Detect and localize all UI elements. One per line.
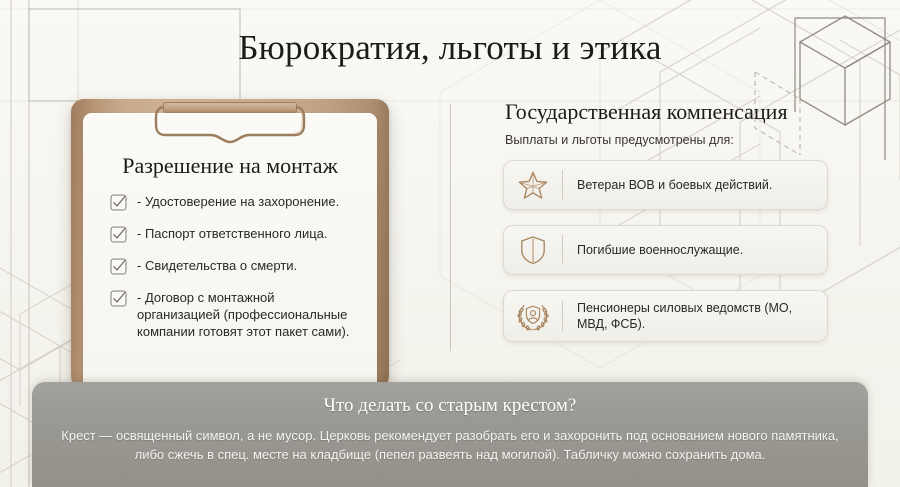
benefit-card-rule [562,170,563,200]
checkbox-checked-icon[interactable] [110,226,127,243]
benefit-icon-wrap [504,235,562,265]
bottom-banner: Что делать со старым крестом? Крест — ос… [32,382,868,487]
banner-body: Крест — освященный символ, а не мусор. Ц… [55,426,845,464]
checkbox-checked-icon[interactable] [110,194,127,211]
compensation-title: Государственная компенсация [505,99,828,125]
banner-title: Что делать со старым крестом? [32,395,868,417]
column-divider [450,104,451,351]
shield-icon [519,235,547,265]
benefit-card-rule [562,301,563,331]
clipboard-clip-bar [163,102,297,113]
compensation-panel: Государственная компенсация Выплаты и ль… [503,99,828,357]
clipboard-paper: Разрешение на монтаж - Удостоверение на … [83,113,377,391]
slide-canvas: Бюрократия, льготы и этика Разрешение на… [0,0,900,487]
benefit-card-fallen-soldiers[interactable]: Погибшие военнослужащие. [503,225,828,275]
list-item-label: - Свидетельства о смерти. [137,257,297,274]
list-item[interactable]: - Договор с монтажной организацией (проф… [110,289,361,340]
clipboard-card: Разрешение на монтаж - Удостоверение на … [71,99,389,389]
list-item-label: - Удостоверение на захоронение. [137,193,339,210]
benefit-icon-wrap [504,170,562,200]
benefit-card-rule [562,235,563,265]
checkbox-checked-icon[interactable] [110,258,127,275]
benefit-icon-wrap [504,300,562,332]
laurel-wreath-icon [514,300,552,332]
benefit-card-label: Погибшие военнослужащие. [577,242,753,258]
star-icon [518,170,548,200]
permission-checklist: - Удостоверение на захоронение. - Паспор… [110,193,361,354]
list-item[interactable]: - Удостоверение на захоронение. [110,193,361,211]
benefit-card-label: Пенсионеры силовых ведомств (МО, МВД, ФС… [577,300,827,332]
benefit-card-pensioners[interactable]: Пенсионеры силовых ведомств (МО, МВД, ФС… [503,290,828,342]
list-item[interactable]: - Свидетельства о смерти. [110,257,361,275]
page-title: Бюрократия, льготы и этика [0,28,900,68]
checkbox-checked-icon[interactable] [110,290,127,307]
benefit-card-veteran[interactable]: Ветеран ВОВ и боевых действий. [503,160,828,210]
compensation-subtitle: Выплаты и льготы предусмотрены для: [505,133,828,147]
benefit-card-label: Ветеран ВОВ и боевых действий. [577,177,782,193]
list-item[interactable]: - Паспорт ответственного лица. [110,225,361,243]
list-item-label: - Паспорт ответственного лица. [137,225,328,242]
clipboard-title: Разрешение на монтаж [83,153,377,179]
list-item-label: - Договор с монтажной организацией (проф… [137,289,361,340]
